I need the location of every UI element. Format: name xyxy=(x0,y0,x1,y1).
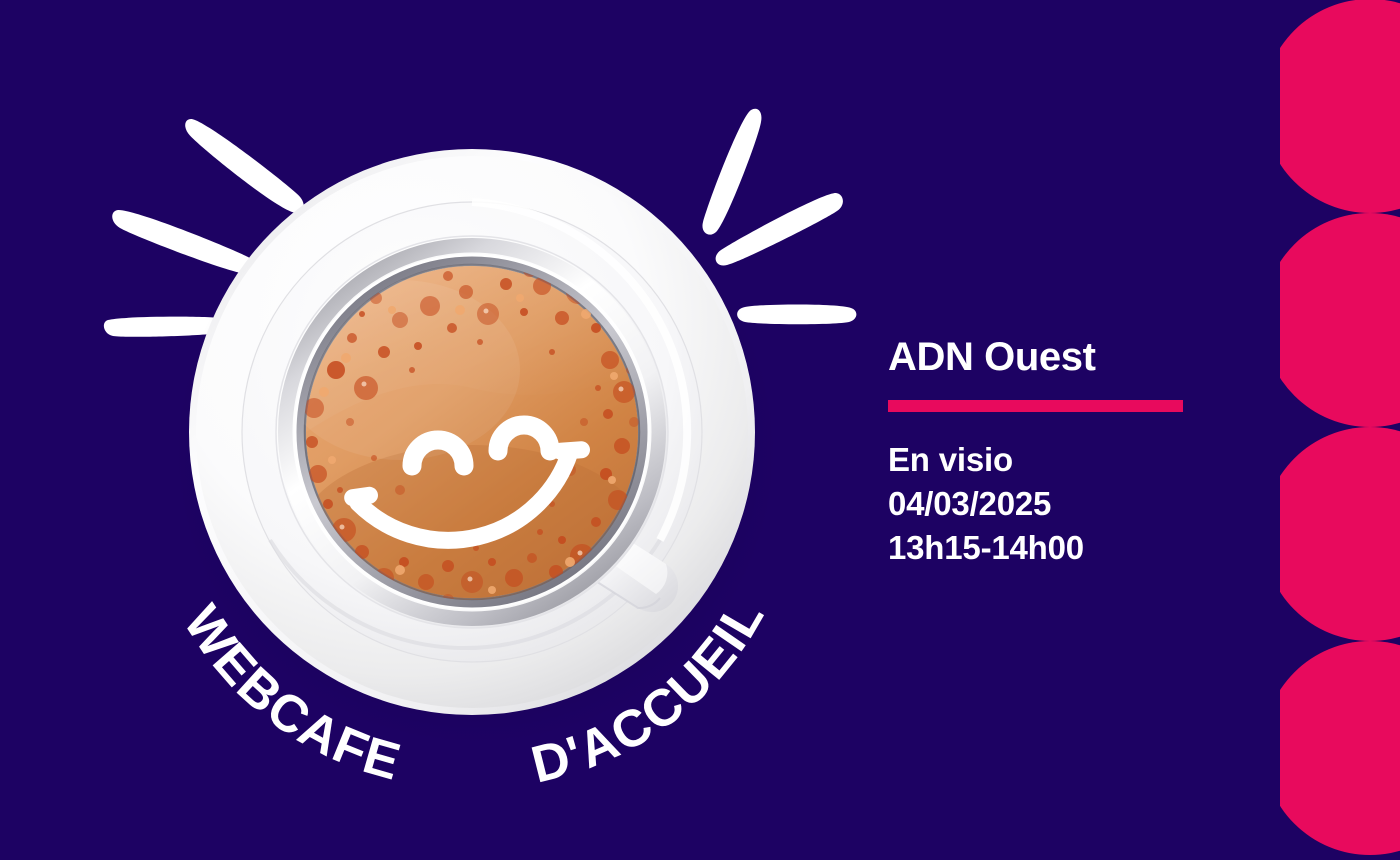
event-mode: En visio xyxy=(888,438,1308,482)
event-info-block: ADN Ouest En visio 04/03/2025 13h15-14h0… xyxy=(888,336,1308,570)
accent-divider xyxy=(888,400,1183,412)
organization-name: ADN Ouest xyxy=(888,336,1308,378)
scallop-decoration xyxy=(1280,0,1400,860)
poster-canvas: WEBCAFE D'ACCUEIL ADN Ouest En visio 04/… xyxy=(0,0,1400,860)
scallop-circles xyxy=(1280,0,1400,855)
coffee-cup-illustration: WEBCAFE D'ACCUEIL xyxy=(100,70,890,810)
event-time-range: 13h15-14h00 xyxy=(888,526,1308,570)
event-details: En visio 04/03/2025 13h15-14h00 xyxy=(888,438,1308,570)
event-date: 04/03/2025 xyxy=(888,482,1308,526)
